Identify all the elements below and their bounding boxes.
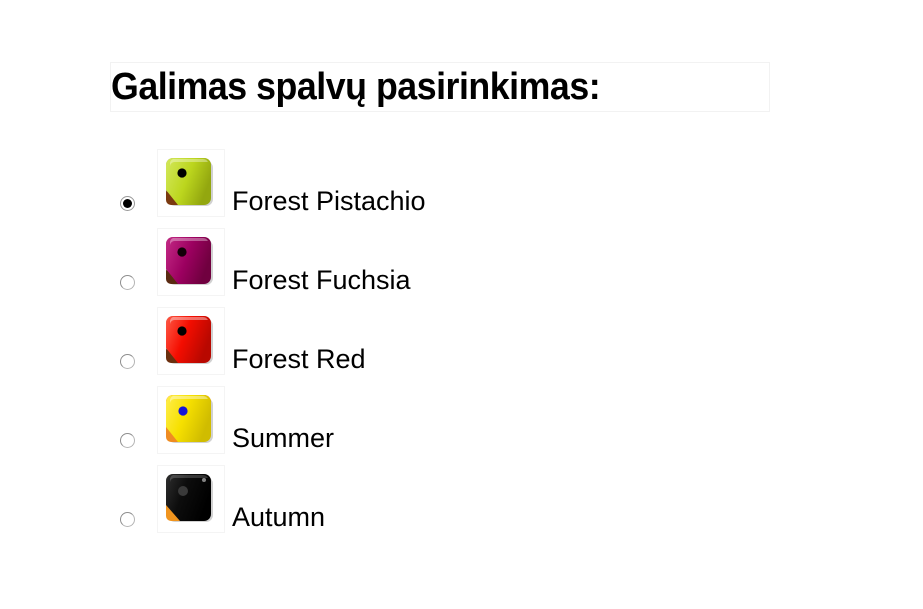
color-option-row[interactable]: Forest Fuchsia (0, 218, 923, 297)
radio-forest-pistachio[interactable] (120, 196, 135, 211)
radio-forest-red[interactable] (120, 354, 135, 369)
page-title-cell: Galimas spalvų pasirinkimas: (110, 62, 770, 112)
icon-cell-autumn (157, 465, 225, 533)
color-option-label: Summer (232, 422, 334, 454)
color-option-label: Forest Fuchsia (232, 264, 411, 296)
color-option-row[interactable]: Forest Red (0, 297, 923, 376)
color-swatch-summer-icon (165, 394, 217, 446)
color-swatch-autumn-icon (165, 473, 217, 525)
color-option-row[interactable]: Autumn (0, 455, 923, 534)
color-swatch-forest-pistachio-icon (165, 157, 217, 209)
radio-autumn[interactable] (120, 512, 135, 527)
icon-cell-summer (157, 386, 225, 454)
color-swatch-forest-red-icon (165, 315, 217, 367)
icon-cell-forest-pistachio (157, 149, 225, 217)
color-option-label: Forest Pistachio (232, 185, 426, 217)
color-option-label: Forest Red (232, 343, 366, 375)
icon-cell-forest-fuchsia (157, 228, 225, 296)
radio-forest-fuchsia[interactable] (120, 275, 135, 290)
icon-cell-forest-red (157, 307, 225, 375)
color-swatch-forest-fuchsia-icon (165, 236, 217, 288)
color-options-radio-group: Forest Pistachio (0, 139, 923, 534)
page-title: Galimas spalvų pasirinkimas: (111, 67, 600, 107)
color-option-row[interactable]: Summer (0, 376, 923, 455)
color-option-label: Autumn (232, 501, 325, 533)
color-option-row[interactable]: Forest Pistachio (0, 139, 923, 218)
radio-summer[interactable] (120, 433, 135, 448)
color-selection-page: Galimas spalvų pasirinkimas: (0, 0, 923, 609)
